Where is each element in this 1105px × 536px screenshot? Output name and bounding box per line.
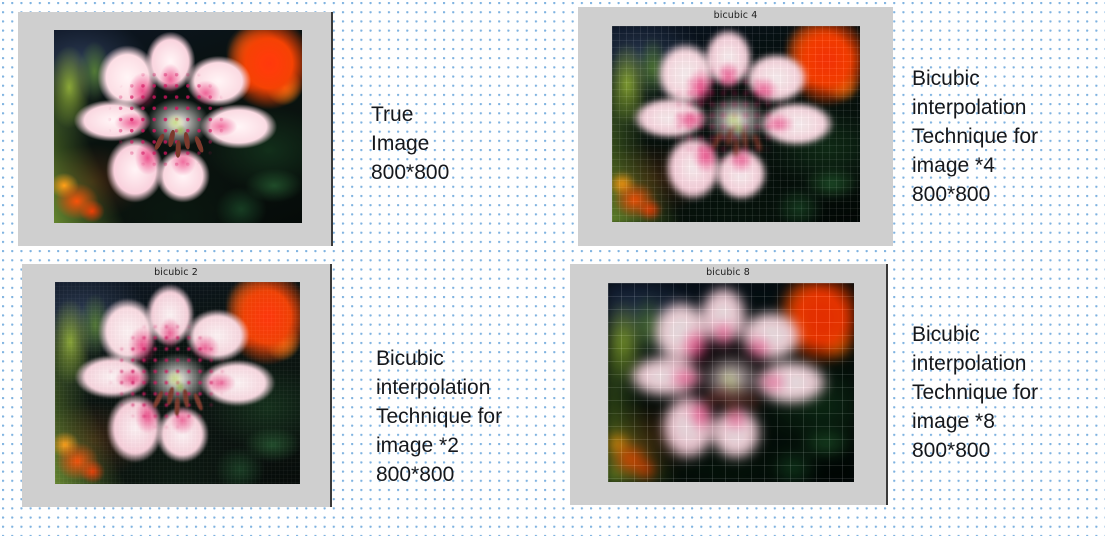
panel-bicubic-8: bicubic 8 bbox=[570, 264, 888, 505]
photo-true-image bbox=[54, 30, 302, 223]
panel-title-bicubic-8: bicubic 8 bbox=[570, 267, 886, 278]
caption-bicubic-8: Bicubic interpolation Technique for imag… bbox=[912, 320, 1038, 465]
photo-bicubic-2 bbox=[55, 282, 300, 484]
lily-stamens bbox=[55, 282, 300, 484]
flower-scene bbox=[55, 282, 300, 484]
panel-title-bicubic-2: bicubic 2 bbox=[22, 267, 330, 278]
panel-bicubic-4: bicubic 4 bbox=[578, 7, 893, 246]
caption-bicubic-4: Bicubic interpolation Technique for imag… bbox=[912, 64, 1038, 209]
panel-bicubic-2: bicubic 2 bbox=[22, 264, 332, 507]
lily-stamens bbox=[54, 30, 302, 223]
caption-bicubic-2: Bicubic interpolation Technique for imag… bbox=[376, 344, 502, 489]
flower-scene bbox=[612, 26, 860, 222]
caption-true-image: True Image 800*800 bbox=[371, 100, 449, 187]
lily-stamens bbox=[612, 26, 860, 222]
panel-title-bicubic-4: bicubic 4 bbox=[578, 10, 893, 21]
photo-bicubic-4 bbox=[612, 26, 860, 222]
flower-scene bbox=[608, 283, 854, 482]
panel-true-image bbox=[18, 12, 333, 246]
flower-scene bbox=[54, 30, 302, 223]
lily-stamens bbox=[608, 283, 854, 482]
photo-bicubic-8 bbox=[608, 283, 854, 482]
